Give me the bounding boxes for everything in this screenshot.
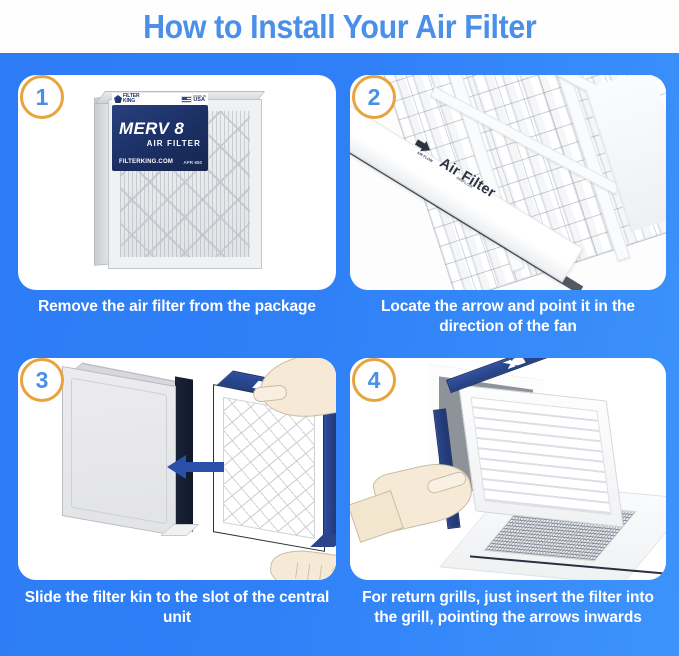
arrow-marks-icon [502,358,525,370]
step-number-badge-1: 1 [20,75,64,119]
crown-shield-icon [114,95,122,103]
step-card-3: 3 Slide the filter kin to the slot of th… [18,358,336,646]
step-4-image-card [350,358,666,580]
apr-rating-text: APR 650 [183,160,202,165]
usa-text-block: MADE IN USA [193,95,206,104]
step-number-badge-3: 3 [20,358,64,402]
filter-king-logo: FILTER KING [114,94,140,104]
step-card-2: AIR FLOW Air Filter AIRFLOW 2 Locate the… [350,75,666,363]
air-filter-product-photo: FILTER KING MADE IN USA [94,89,264,272]
filter-into-return-grill-illustration [350,358,666,580]
step-number-3: 3 [36,369,49,392]
slide-direction-arrow-icon [166,454,224,480]
step-caption-4: For return grills, just insert the filte… [350,588,666,629]
return-grill-door [458,384,624,527]
hand-finger [426,470,468,495]
page-title: How to Install Your Air Filter [143,8,536,46]
replacement-filter-mesh [223,397,315,539]
step-number-1: 1 [36,86,49,109]
unit-inner-outline [71,378,167,525]
finger-lines [284,561,336,580]
made-in-usa-badge: MADE IN USA [181,95,206,104]
step-card-4: 4 For return grills, just insert the fil… [350,358,666,646]
filter-corner-arrow-photo: AIR FLOW Air Filter AIRFLOW [350,75,666,290]
step-2-image-card: AIR FLOW Air Filter AIRFLOW [350,75,666,290]
label-subtitle: AIR FILTER [147,139,201,148]
website-text: FILTERKING.COM [119,159,173,165]
step-caption-3: Slide the filter kin to the slot of the … [18,588,336,629]
step-number-2: 2 [368,86,381,109]
bottom-hand [268,546,336,580]
grill-louvers [471,397,612,515]
step-card-1: FILTER KING MADE IN USA [18,75,336,363]
step-1-image-card: FILTER KING MADE IN USA [18,75,336,290]
step-3-image-card [18,358,336,580]
steps-grid: FILTER KING MADE IN USA [0,53,679,656]
hand-forearm [350,490,404,543]
merv-rating: MERV 8 [119,119,184,139]
step-number-badge-4: 4 [352,358,396,402]
filter-product-label: FILTER KING MADE IN USA [112,105,208,171]
infographic-root: How to Install Your Air Filter [0,0,679,656]
central-unit-body [62,366,176,536]
step-caption-2: Locate the arrow and point it in the dir… [350,297,666,338]
filter-sliding-into-unit-illustration [18,358,336,580]
step-number-badge-2: 2 [352,75,396,119]
brand-text: FILTER KING [123,94,140,104]
label-header-strip: FILTER KING MADE IN USA [112,93,208,105]
label-footer-strip: FILTERKING.COM APR 650 [119,159,202,165]
country-label: USA [193,97,205,103]
step-caption-1: Remove the air filter from the package [18,297,336,317]
brand-line-2: KING [123,98,135,104]
usa-flag-icon [181,96,192,103]
header-bar: How to Install Your Air Filter [0,0,679,53]
step-number-4: 4 [368,369,381,392]
